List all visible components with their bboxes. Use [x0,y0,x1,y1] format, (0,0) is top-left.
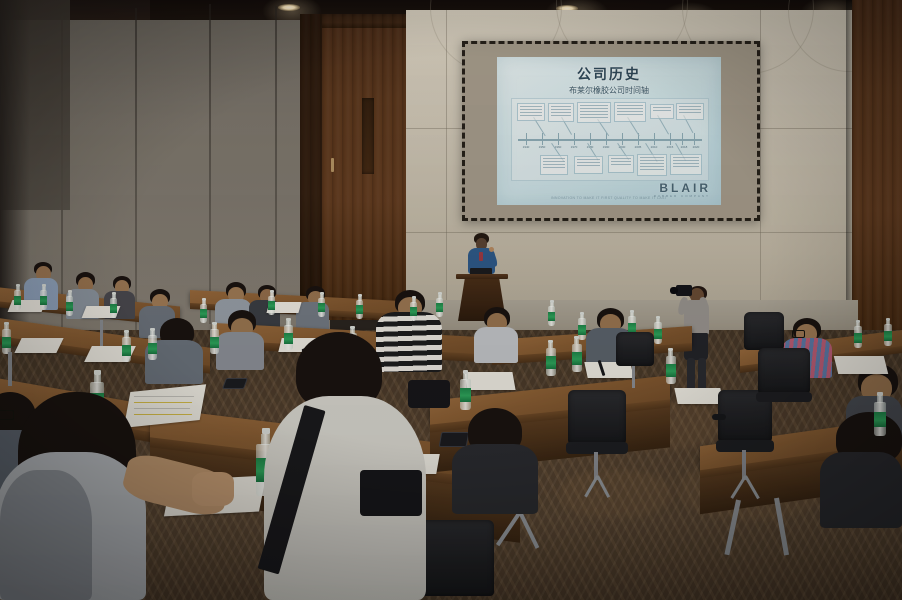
bottle-label [318,303,325,312]
timeline-callout [574,156,603,174]
slide-title: 公司历史 [497,64,721,84]
notebook-rule [134,402,192,403]
attendee-torso [820,452,902,528]
timeline-callout [676,103,704,120]
photographer-leg-right [698,358,706,391]
water-bottle [148,328,157,360]
bottle-label [436,303,443,312]
shoulder-bag [360,470,422,516]
wall-panel [136,8,210,330]
camera-body [676,285,692,296]
bottle-label [66,302,73,311]
timeline-callout [637,154,667,176]
water-bottle [318,292,325,317]
notebook-rule [134,414,192,415]
water-bottle [284,318,293,350]
bottle-label [14,296,21,305]
right-wood-column [852,0,902,352]
wall-panel-seam [209,4,211,324]
water-bottle [122,330,131,362]
bottle-label [666,364,676,377]
eyeglasses-icon [0,410,14,420]
office-chair-post [100,320,103,346]
timeline-callout [670,154,702,175]
water-bottle [436,292,443,317]
attendee-shoulder-shadow [0,470,92,600]
water-bottle [460,370,471,410]
bottle-label [578,325,586,335]
slide-footer-tagline: INNOVATION TO MAKE IT FIRST QUALITY TO M… [497,196,721,200]
eyeglasses-icon [792,330,805,338]
camera-lens [670,287,678,294]
water-bottle [110,292,117,318]
bottle-label [410,307,417,316]
timeline-tick [654,133,655,145]
attendee-hand [192,472,234,506]
office-chair-back [616,332,654,366]
office-chair-back [758,348,810,394]
timeline-tick [622,133,623,145]
notebook-rule [134,396,194,397]
water-bottle [884,318,892,346]
striped-shirt-pattern [376,312,442,372]
photographer-leg-left [687,358,695,391]
wall-seam-horizontal [406,232,858,233]
bottle-label [572,352,582,365]
timeline-callout [517,103,545,121]
timeline-tick [542,133,543,145]
timeline-callout [608,155,634,173]
paper-sheet [674,388,723,404]
bottle-label [548,312,555,321]
timeline-tick [558,133,559,145]
bottle-label [40,296,47,305]
water-bottle [666,348,676,384]
water-bottle [572,336,582,372]
bottle-label [546,356,556,369]
paper-sheet [834,356,888,374]
attendee-torso [452,444,538,514]
timeline-tick [670,133,671,145]
conference-room-photo: 公司历史 布莱尔橡胶公司时间轴 1940 1950 1960 1970 1980… [0,0,902,600]
slide-timeline-panel: 1940 1950 1960 1970 1980 1990 2000 2005 … [511,98,709,181]
bottle-label [874,412,886,427]
presenter-hand [489,247,494,252]
wood-wall-panel [300,14,322,314]
office-chair-post [632,366,635,388]
bottle-label [284,333,293,344]
water-bottle [654,316,662,344]
attendee-torso [474,327,518,363]
podium-top [456,274,508,279]
bottle-label [200,309,207,318]
water-bottle [2,322,11,354]
timeline-tick [682,133,683,145]
paper-sheet [464,372,515,390]
attendee-torso [216,332,264,370]
timeline-year: 2020 [686,145,706,149]
blair-logo: BLAIR [659,181,711,195]
bottle-label [110,304,117,313]
wall-seam-vertical [760,10,761,340]
water-bottle [356,294,363,319]
bottle-label [884,331,892,341]
timeline-callout [540,155,568,175]
timeline-callout [548,103,574,122]
wall-panel-seam [275,6,277,320]
bottle-label [356,305,363,314]
water-bottle [546,340,556,376]
bottle-label [654,329,662,339]
paper-sheet [14,338,63,353]
water-bottle [268,290,275,315]
office-chair-post [8,352,12,386]
bottle-label [2,337,11,348]
carpet-pattern [560,470,670,518]
timeline-tick [590,133,591,145]
timeline-callout [577,102,611,123]
water-bottle [14,284,21,310]
bottle-label [268,301,275,310]
smartphone [222,378,248,389]
office-chair-arm [712,414,726,420]
shoulder-bag-strap-buckle [408,380,450,408]
timeline-callout [614,102,646,122]
water-bottle [40,284,47,310]
bottle-label [854,333,862,343]
timeline-callout [650,104,674,119]
timeline-axis [518,139,702,141]
wall-panel-seam [135,8,137,330]
attendee-torso-striped [376,312,442,372]
bottle-label [460,388,471,402]
timeline-tick [526,133,527,145]
water-bottle [210,322,219,354]
presenter-badge-lanyard [479,252,483,261]
office-chair-back [744,312,784,350]
water-bottle [200,298,207,323]
door-inset-panel [362,98,374,174]
door-handle [331,158,334,172]
bottle-label [122,345,131,356]
office-chair-seat [756,392,812,402]
water-bottle [854,320,862,348]
projection-screen-surface: 公司历史 布莱尔橡胶公司时间轴 1940 1950 1960 1970 1980… [497,57,721,205]
timeline-tick [574,133,575,145]
notebook-rule [134,408,190,409]
water-bottle [410,296,417,321]
water-bottle [874,392,886,436]
timeline-tick [694,133,695,145]
water-bottle [66,290,73,316]
wall-seam-vertical [446,10,447,340]
water-bottle [548,300,555,326]
wall-panel [210,4,276,324]
bottle-label [148,343,157,354]
office-chair-back [568,390,626,444]
wood-wall-upper [322,14,406,28]
smartphone [439,432,470,447]
bottle-label [210,337,219,348]
slide-subtitle: 布莱尔橡胶公司时间轴 [497,85,721,96]
